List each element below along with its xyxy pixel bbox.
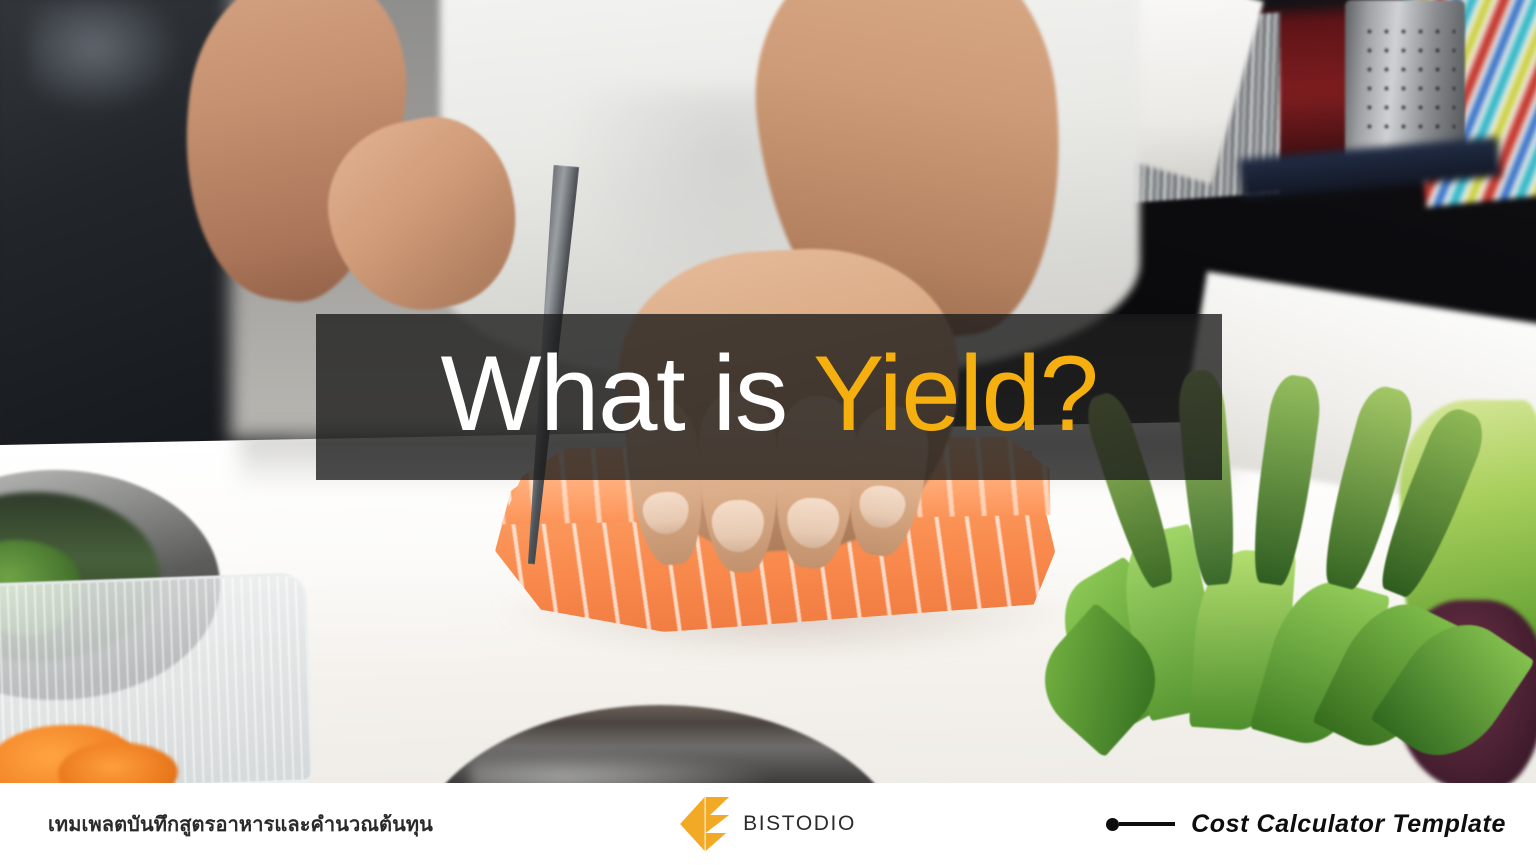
- page-title-highlight: Yield?: [813, 333, 1097, 453]
- brand-lockup[interactable]: BISTODIO: [680, 796, 856, 852]
- bullet-line-icon: [1119, 822, 1175, 826]
- bullet-dot-icon: [1106, 818, 1119, 831]
- page-title-primary: What is: [441, 333, 814, 453]
- thyme-sprig: [1246, 373, 1325, 588]
- bistodio-wordmark: BISTODIO: [743, 812, 856, 836]
- footer-right-group: Cost Calculator Template: [1106, 810, 1506, 839]
- footer-left-label: เทมเพลตบันทึกสูตรอาหารและคำนวณต้นทุน: [48, 808, 433, 840]
- footer-bar: เทมเพลตบันทึกสูตรอาหารและคำนวณต้นทุน BIS…: [0, 783, 1536, 865]
- bistodio-logo-icon: [680, 796, 730, 852]
- page-title: What is Yield?: [441, 340, 1098, 455]
- slide-root: What is Yield? เทมเพลตบันทึกสูตรอาหารและ…: [0, 0, 1536, 865]
- title-band: What is Yield?: [316, 314, 1222, 480]
- footer-right-label: Cost Calculator Template: [1191, 810, 1506, 839]
